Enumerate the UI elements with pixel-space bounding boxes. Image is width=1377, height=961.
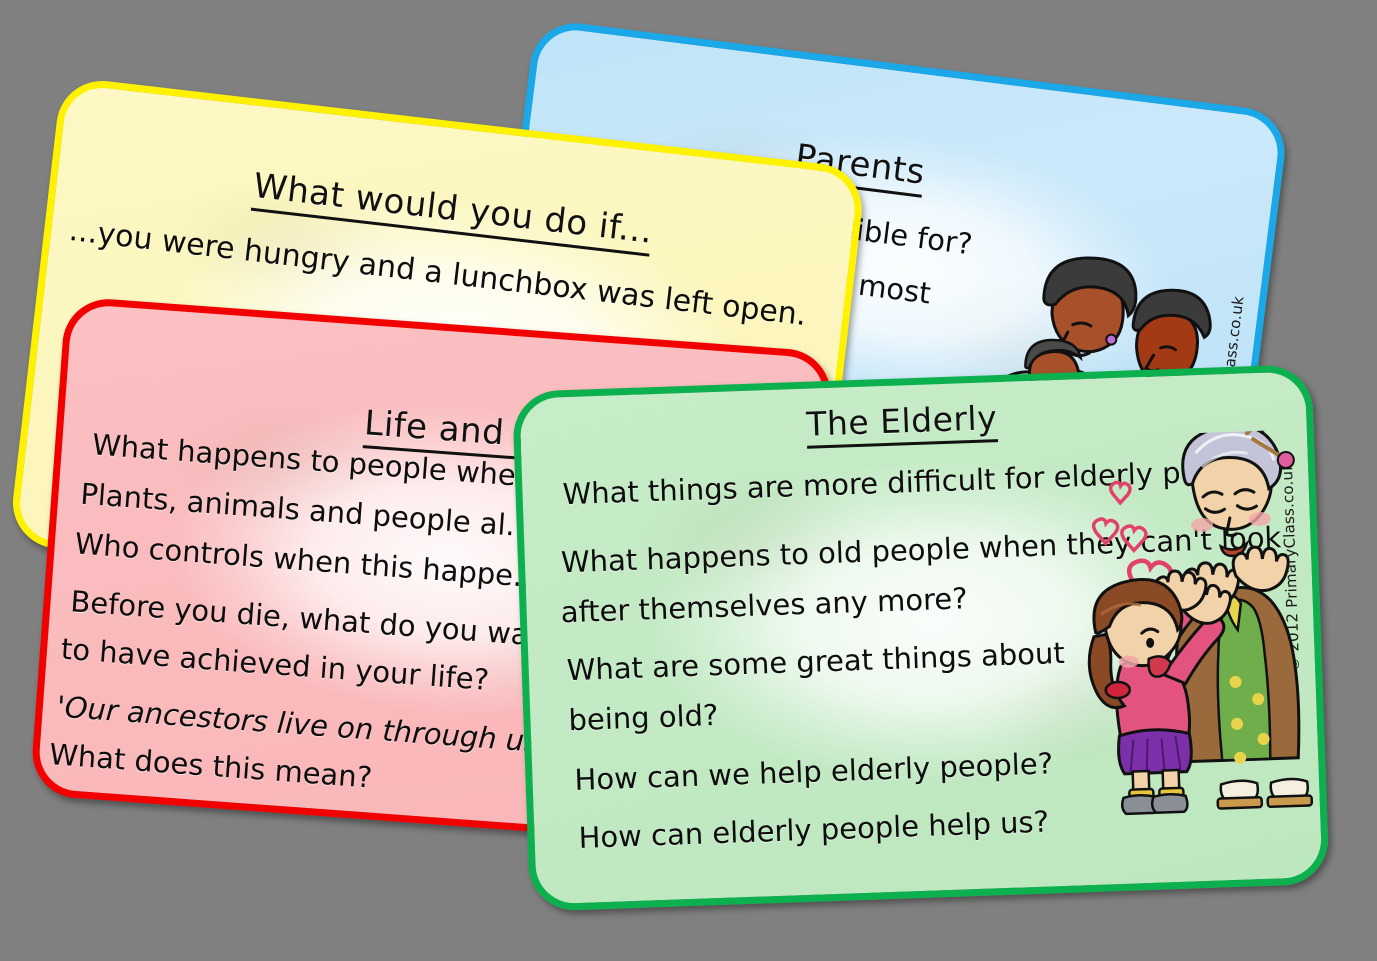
card-the-elderly-line-6: How can we help elderly people?: [574, 746, 1054, 797]
card-the-elderly-line-4: What are some great things about: [566, 636, 1065, 687]
card-the-elderly-line-5: being old?: [568, 698, 719, 737]
card-the-elderly-line-3: after themselves any more?: [560, 581, 968, 629]
card-the-elderly[interactable]: The Elderly What things are more difficu…: [512, 364, 1330, 912]
card-the-elderly-line-7: How can elderly people help us?: [578, 805, 1050, 855]
cards-canvas: Parents ...ponsible for? ...their most .…: [0, 0, 1377, 961]
card-the-elderly-title: The Elderly: [806, 398, 998, 449]
grandmother-and-girl-illustration: [1077, 429, 1330, 837]
card-the-elderly-content: The Elderly What things are more difficu…: [519, 371, 1322, 904]
card-life-and-death-line-7: What does this mean?: [48, 737, 373, 795]
